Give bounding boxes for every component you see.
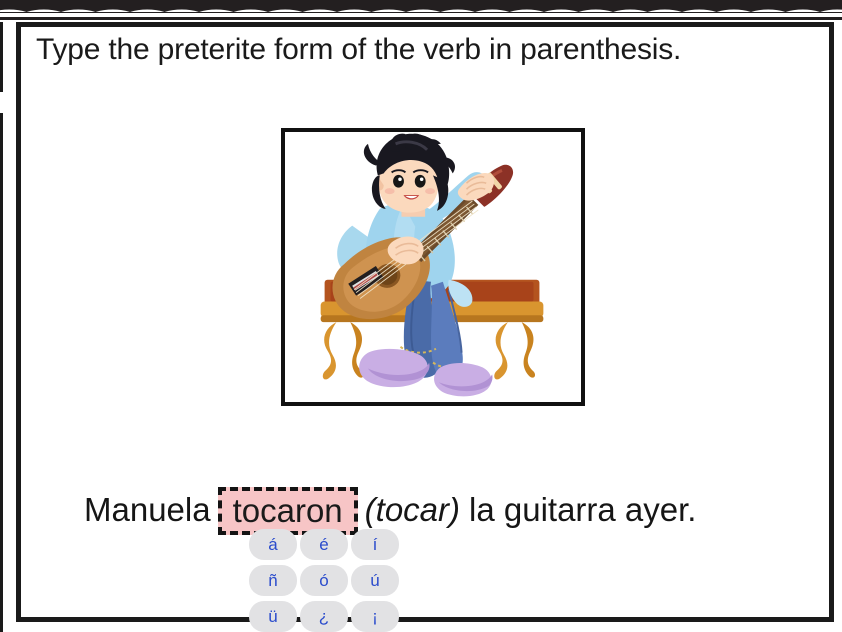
- accent-key-o-acute[interactable]: ó: [300, 565, 348, 596]
- top-rule-black: [0, 17, 842, 20]
- guitar-player-illustration: [285, 132, 581, 402]
- scallop-pattern-icon: [0, 0, 842, 12]
- accent-key-u-diaeresis[interactable]: ü: [249, 601, 297, 632]
- sentence-before: Manuela: [84, 487, 211, 533]
- illustration-frame: [281, 128, 585, 406]
- answer-input[interactable]: tocaron: [218, 487, 358, 535]
- prompt-text: Type the preterite form of the verb in p…: [36, 31, 826, 69]
- accent-character-pad[interactable]: á é í ñ ó ú ü ¿ ¡: [249, 529, 401, 632]
- accent-key-inverted-exclamation[interactable]: ¡: [351, 601, 399, 632]
- exercise-screen: Type the preterite form of the verb in p…: [0, 0, 842, 632]
- accent-key-inverted-question[interactable]: ¿: [300, 601, 348, 632]
- accent-key-n-tilde[interactable]: ñ: [249, 565, 297, 596]
- left-rail-upper: [0, 22, 3, 92]
- accent-key-u-acute[interactable]: ú: [351, 565, 399, 596]
- sentence-after: la guitarra ayer.: [469, 487, 696, 533]
- exercise-sentence: Manuela tocaron (tocar) la guitarra ayer…: [84, 487, 696, 533]
- accent-key-a-acute[interactable]: á: [249, 529, 297, 560]
- left-rail-lower: [0, 113, 3, 632]
- verb-hint: (tocar): [365, 487, 460, 533]
- accent-key-e-acute[interactable]: é: [300, 529, 348, 560]
- decorative-scallop-border: [0, 0, 842, 13]
- accent-key-i-acute[interactable]: í: [351, 529, 399, 560]
